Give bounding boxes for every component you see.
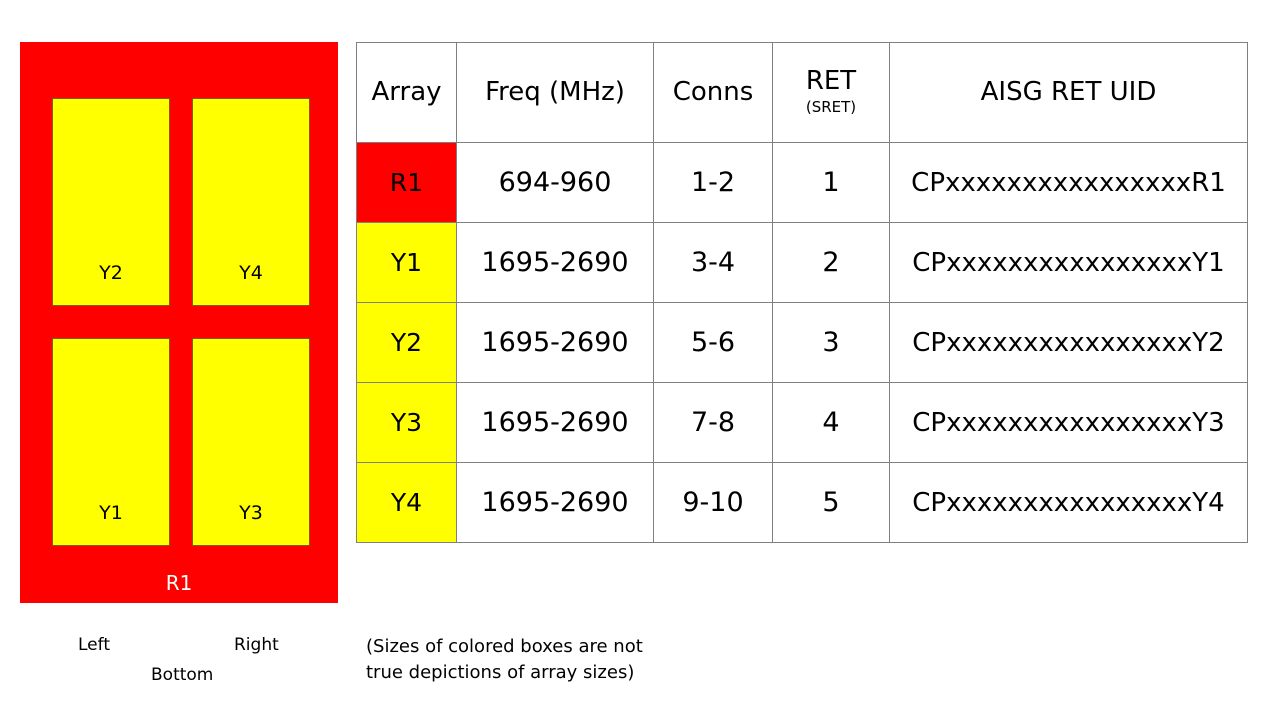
cell-array: Y2: [357, 303, 457, 383]
panel-bottom-label: R1: [20, 573, 338, 593]
table-header-row: Array Freq (MHz) Conns RET (SRET) AISG R…: [357, 43, 1248, 143]
diagram-note-line-2: true depictions of array sizes): [366, 660, 726, 686]
array-box-bottom-left: Y1: [52, 338, 170, 546]
column-header-array: Array: [357, 43, 457, 143]
cell-freq: 1695-2690: [457, 303, 654, 383]
column-header-freq: Freq (MHz): [457, 43, 654, 143]
cell-conns: 7-8: [654, 383, 773, 463]
array-box-label: Y1: [99, 504, 123, 545]
cell-uid: CPxxxxxxxxxxxxxxxxY3: [890, 383, 1248, 463]
column-header-uid: AISG RET UID: [890, 43, 1248, 143]
cell-ret: 5: [773, 463, 890, 543]
cell-uid: CPxxxxxxxxxxxxxxxxY1: [890, 223, 1248, 303]
orientation-label-right: Right: [234, 637, 279, 654]
array-box-label: Y3: [239, 504, 263, 545]
cell-array: Y4: [357, 463, 457, 543]
cell-array: Y1: [357, 223, 457, 303]
diagram-note-line-1: (Sizes of colored boxes are not: [366, 634, 726, 660]
array-box-label: Y2: [99, 264, 123, 305]
cell-uid: CPxxxxxxxxxxxxxxxxY4: [890, 463, 1248, 543]
table-row: Y1 1695-2690 3-4 2 CPxxxxxxxxxxxxxxxxY1: [357, 223, 1248, 303]
column-header-ret-sub: (SRET): [773, 96, 889, 119]
orientation-label-bottom: Bottom: [151, 667, 213, 684]
cell-conns: 1-2: [654, 143, 773, 223]
cell-freq: 1695-2690: [457, 383, 654, 463]
array-box-bottom-right: Y3: [192, 338, 310, 546]
table-row: Y3 1695-2690 7-8 4 CPxxxxxxxxxxxxxxxxY3: [357, 383, 1248, 463]
cell-conns: 9-10: [654, 463, 773, 543]
array-box-top-left: Y2: [52, 98, 170, 306]
cell-array: Y3: [357, 383, 457, 463]
column-header-ret: RET (SRET): [773, 43, 890, 143]
cell-conns: 5-6: [654, 303, 773, 383]
table-row: Y4 1695-2690 9-10 5 CPxxxxxxxxxxxxxxxxY4: [357, 463, 1248, 543]
cell-freq: 694-960: [457, 143, 654, 223]
cell-ret: 1: [773, 143, 890, 223]
table-row: Y2 1695-2690 5-6 3 CPxxxxxxxxxxxxxxxxY2: [357, 303, 1248, 383]
cell-freq: 1695-2690: [457, 223, 654, 303]
orientation-label-left: Left: [78, 637, 110, 654]
table-row: R1 694-960 1-2 1 CPxxxxxxxxxxxxxxxxR1: [357, 143, 1248, 223]
array-box-top-right: Y4: [192, 98, 310, 306]
orientation-label-group: Left Right Bottom: [20, 628, 338, 700]
cell-uid: CPxxxxxxxxxxxxxxxxR1: [890, 143, 1248, 223]
cell-array: R1: [357, 143, 457, 223]
diagram-note: (Sizes of colored boxes are not true dep…: [366, 634, 726, 686]
cell-freq: 1695-2690: [457, 463, 654, 543]
cell-conns: 3-4: [654, 223, 773, 303]
cell-ret: 4: [773, 383, 890, 463]
cell-uid: CPxxxxxxxxxxxxxxxxY2: [890, 303, 1248, 383]
antenna-panel-diagram: Y2 Y4 Y1 Y3 R1: [20, 42, 338, 603]
ret-configuration-table: Array Freq (MHz) Conns RET (SRET) AISG R…: [356, 42, 1248, 543]
column-header-conns: Conns: [654, 43, 773, 143]
cell-ret: 2: [773, 223, 890, 303]
column-header-ret-main: RET: [806, 66, 856, 96]
cell-ret: 3: [773, 303, 890, 383]
array-box-label: Y4: [239, 264, 263, 305]
